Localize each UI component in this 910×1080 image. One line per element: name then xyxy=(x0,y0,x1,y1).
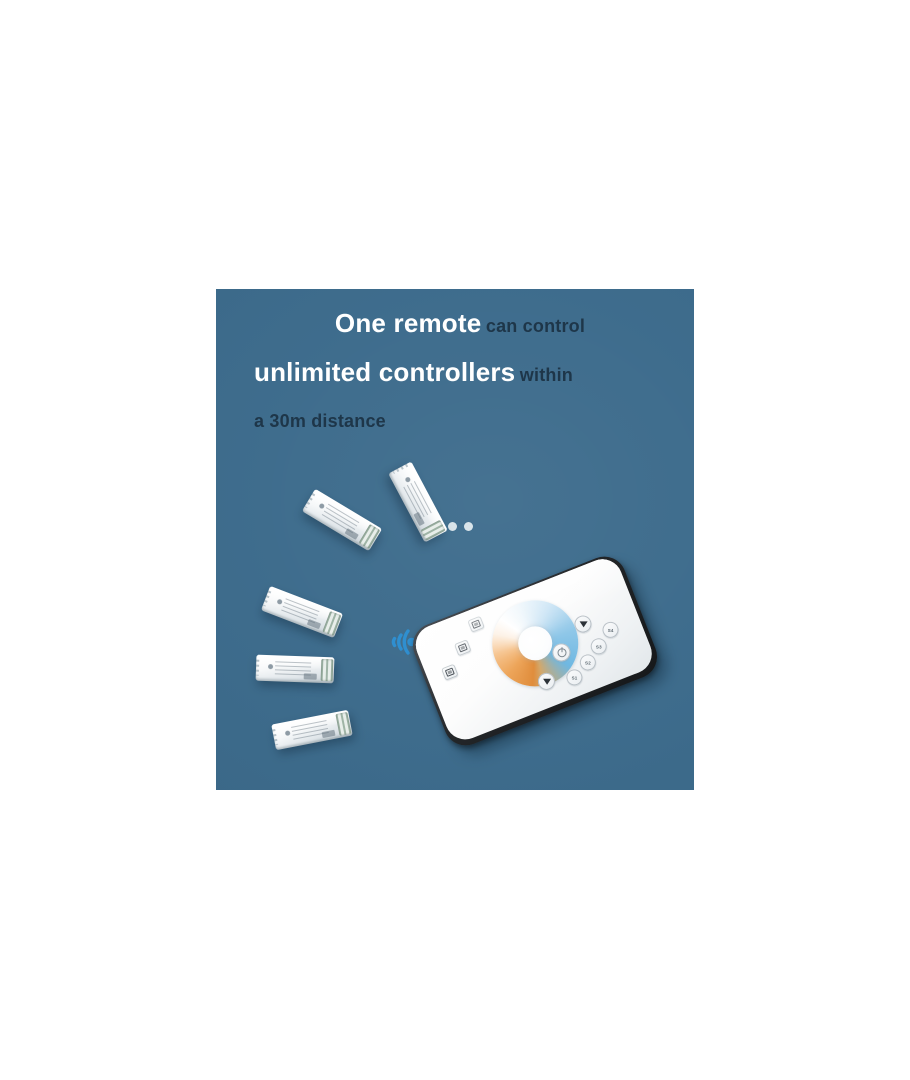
headline-line-1: One remote can control xyxy=(254,301,684,350)
preset-button-s4-label: S4 xyxy=(608,627,614,632)
preset-button-s2[interactable]: S2 xyxy=(577,652,598,673)
preset-button-s4[interactable]: S4 xyxy=(600,619,621,640)
ellipsis-dot xyxy=(464,522,473,531)
headline-line-1-soft: can control xyxy=(486,316,585,336)
headline-line-2-soft: within xyxy=(520,365,573,385)
zone-square-icon xyxy=(471,620,481,629)
controller-output-terminal xyxy=(323,611,342,636)
controller-certification-mark xyxy=(322,730,335,738)
controller-output-terminal xyxy=(321,659,333,681)
controller-output-terminal xyxy=(359,524,380,549)
controller-body xyxy=(256,655,335,684)
controller-input-pins xyxy=(271,729,278,747)
headline-line-1-strong: One remote xyxy=(335,308,482,338)
rf-remote-control[interactable]: S1 S2 S3 S4 xyxy=(406,550,663,752)
controller-certification-mark xyxy=(345,528,359,539)
led-controller-module xyxy=(256,655,335,684)
zone-button-3[interactable] xyxy=(467,616,485,633)
preset-button-s2-label: S2 xyxy=(585,660,591,665)
controller-body xyxy=(388,461,448,542)
controller-input-pins xyxy=(261,589,271,607)
headline-line-2: unlimited controllers within xyxy=(254,350,684,399)
led-controller-module xyxy=(302,489,382,551)
ellipsis-dot xyxy=(448,522,457,531)
zone-square-icon xyxy=(445,667,455,676)
zone-square-icon xyxy=(458,643,468,652)
preset-button-s3[interactable]: S3 xyxy=(588,636,609,657)
preset-button-s3-label: S3 xyxy=(596,644,602,649)
triangle-up-icon xyxy=(542,678,550,684)
controller-input-pins xyxy=(256,659,260,676)
headline-line-2-strong: unlimited controllers xyxy=(254,357,515,387)
controller-print-label xyxy=(321,503,359,534)
controller-body xyxy=(302,489,382,551)
controller-output-terminal xyxy=(336,712,352,736)
preset-button-s1-label: S1 xyxy=(571,675,577,680)
controller-certification-mark xyxy=(307,619,321,629)
controller-led-dot xyxy=(268,664,273,669)
headline-line-3: a 30m distance xyxy=(254,399,684,445)
controller-input-pins xyxy=(390,461,408,474)
led-controller-module xyxy=(388,461,448,542)
headline-block: One remote can control unlimited control… xyxy=(254,301,684,445)
power-icon xyxy=(557,648,566,657)
zone-button-1[interactable] xyxy=(441,664,459,681)
controller-input-pins xyxy=(302,491,316,509)
promo-panel: One remote can control unlimited control… xyxy=(216,289,694,790)
led-controller-module xyxy=(271,710,353,750)
controller-body xyxy=(261,586,343,638)
zone-button-2[interactable] xyxy=(454,639,472,656)
led-controller-module xyxy=(261,586,343,638)
triangle-up-icon xyxy=(579,621,587,627)
headline-line-3-soft: a 30m distance xyxy=(254,411,386,431)
controller-certification-mark xyxy=(304,673,317,679)
remote-face: S1 S2 S3 S4 xyxy=(410,553,658,745)
controller-led-dot xyxy=(285,730,291,736)
controller-body xyxy=(271,710,353,750)
